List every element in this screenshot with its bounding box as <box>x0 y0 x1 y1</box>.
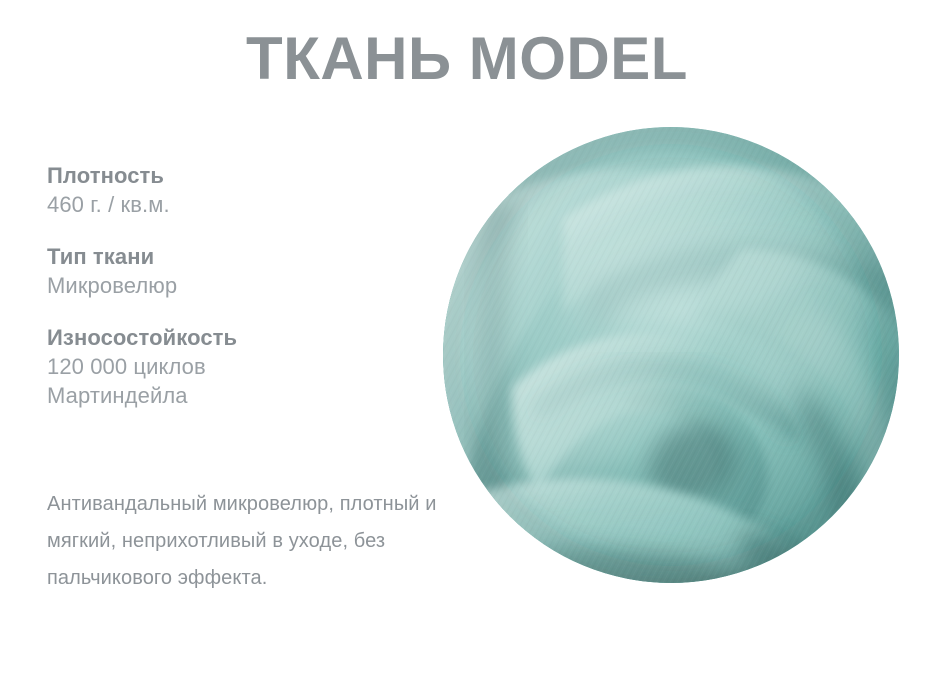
fabric-spec-slide: ТКАНЬ MODEL Плотность 460 г. / кв.м. Тип… <box>0 0 934 700</box>
fabric-illustration <box>443 127 899 583</box>
spec-value-density: 460 г. / кв.м. <box>47 190 427 219</box>
spec-label-durability: Износостойкость <box>47 324 427 352</box>
page-title: ТКАНЬ MODEL <box>0 24 934 94</box>
spec-value-durability-line2: Мартиндейла <box>47 381 427 410</box>
spec-item-durability: Износостойкость 120 000 циклов Мартиндей… <box>47 324 427 410</box>
spec-value-fabric-type: Микровелюр <box>47 271 427 300</box>
spec-item-density: Плотность 460 г. / кв.м. <box>47 162 427 219</box>
fabric-swatch-circle-icon <box>443 127 899 583</box>
spec-value-durability: 120 000 циклов <box>47 352 427 381</box>
description-text: Антивандальный микровелюр, плотный и мяг… <box>47 486 447 597</box>
spec-item-fabric-type: Тип ткани Микровелюр <box>47 243 427 300</box>
specs-list: Плотность 460 г. / кв.м. Тип ткани Микро… <box>47 162 427 410</box>
spec-label-density: Плотность <box>47 162 427 190</box>
spec-label-fabric-type: Тип ткани <box>47 243 427 271</box>
